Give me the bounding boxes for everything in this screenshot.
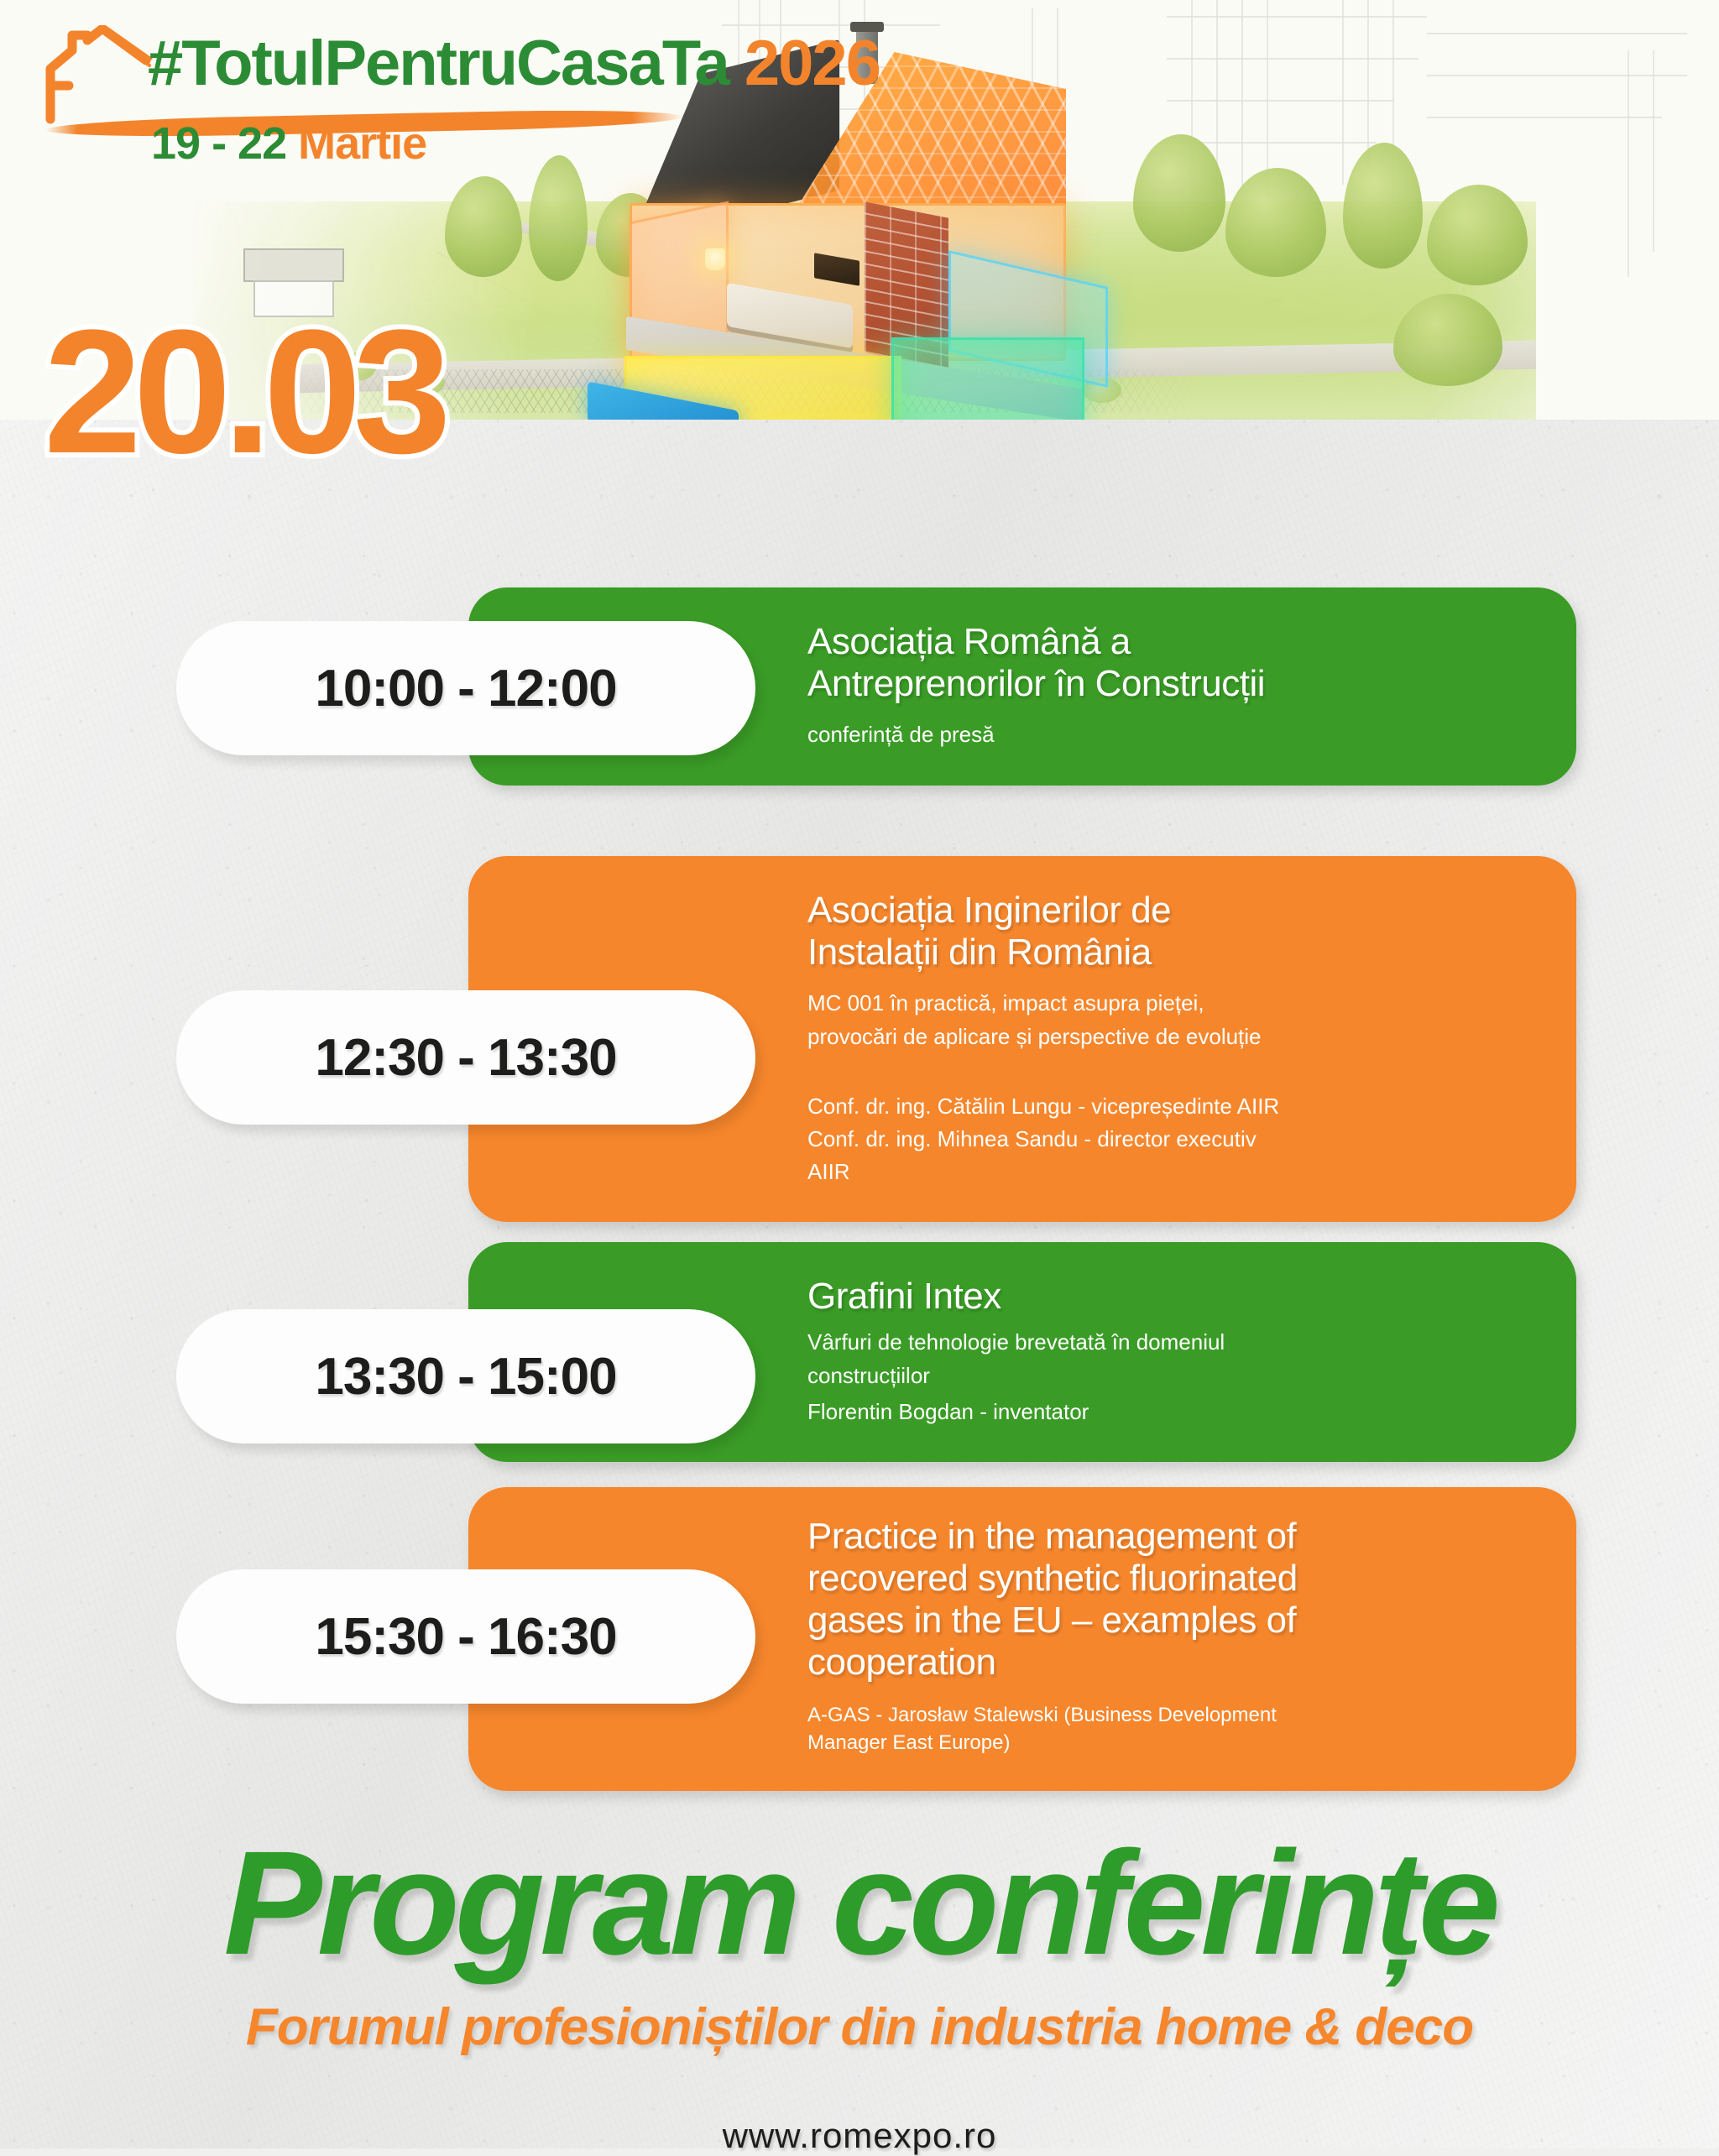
session-time-pill[interactable]: 10:00 - 12:00 <box>176 621 755 755</box>
logo-hash: # <box>148 28 181 99</box>
session-speakers: Florentin Bogdan - inventator <box>807 1396 1299 1428</box>
tree <box>1427 185 1528 285</box>
neighbour-house-roof <box>243 248 344 282</box>
tree <box>1225 168 1326 277</box>
session-description: MC 001 în practică, impact asupra pieței… <box>807 987 1299 1053</box>
house-outline-icon <box>44 25 153 124</box>
footer-title: Program conferințe <box>0 1830 1719 1977</box>
footer-subtitle: Forumul profesioniștilor din industria h… <box>0 1997 1719 2057</box>
session-time: 15:30 - 16:30 <box>315 1607 616 1667</box>
house-lower-floor-green <box>891 337 1084 420</box>
session-time-pill[interactable]: 13:30 - 15:00 <box>176 1309 755 1443</box>
session-description: A-GAS - Jarosław Stalewski (Business Dev… <box>807 1701 1299 1757</box>
event-logo[interactable]: #TotulPentruCasaTa 2026 19 - 22 Martie <box>44 12 598 163</box>
session-time: 13:30 - 15:00 <box>315 1347 616 1407</box>
logo-name: TotulPentruCasaTa <box>181 28 728 99</box>
session-time-pill[interactable]: 12:30 - 13:30 <box>176 990 755 1125</box>
session-title: Asociația Inginerilor de Instalații din … <box>807 890 1299 974</box>
footer-website[interactable]: www.romexpo.ro <box>0 2116 1719 2156</box>
session-title: Grafini Intex <box>807 1276 1299 1318</box>
session-time: 12:30 - 13:30 <box>315 1028 616 1088</box>
house-floor-lamp <box>705 248 725 270</box>
session-title: Practice in the management of recovered … <box>807 1516 1299 1684</box>
logo-dates: 19 - 22 Martie <box>151 117 426 170</box>
tree <box>1343 143 1423 269</box>
logo-year: 2026 <box>745 28 880 99</box>
session-description: conferință de presă <box>807 718 1299 752</box>
session-title: Asociația Română a Antreprenorilor în Co… <box>807 621 1299 705</box>
tree <box>445 176 522 277</box>
hero-date-badge: 20.03 <box>44 304 443 480</box>
session-time: 10:00 - 12:00 <box>315 659 616 718</box>
logo-wordmark: #TotulPentruCasaTa 2026 <box>148 27 880 100</box>
session-description: Vârfuri de tehnologie brevetată în domen… <box>807 1326 1299 1392</box>
session-time-pill[interactable]: 15:30 - 16:30 <box>176 1569 755 1704</box>
logo-day-range: 19 - 22 <box>151 118 286 169</box>
session-speakers: Conf. dr. ing. Cătălin Lungu - vicepreșe… <box>807 1090 1299 1188</box>
poster-footer: Program conferințe Forumul profesioniști… <box>0 1830 1719 2156</box>
logo-month: Martie <box>298 118 426 169</box>
